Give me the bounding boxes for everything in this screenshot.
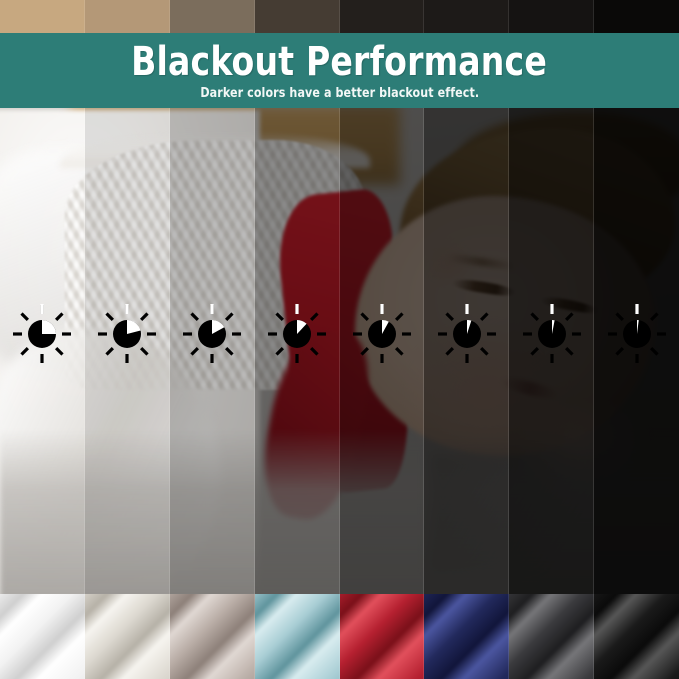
fabric-swatch-strip	[0, 594, 679, 679]
sun-brightness-icon-1	[0, 298, 85, 370]
title-banner: Blackout Performance Darker colors have …	[0, 33, 679, 108]
top-strip-cell-6	[424, 0, 509, 33]
top-strip-cell-1	[0, 0, 85, 33]
fabric-swatch-red	[340, 594, 425, 679]
fabric-swatch-black	[594, 594, 679, 679]
fabric-sheen	[594, 594, 679, 679]
top-strip-cell-3	[170, 0, 255, 33]
fabric-sheen	[509, 594, 594, 679]
top-strip-cell-8	[594, 0, 679, 33]
sun-icon-row	[0, 298, 679, 370]
page-title: Blackout Performance	[132, 41, 548, 83]
sun-brightness-icon-7	[509, 298, 594, 370]
fabric-swatch-ivory	[85, 594, 170, 679]
fabric-sheen	[255, 594, 340, 679]
fabric-swatch-dark-gray	[509, 594, 594, 679]
sun-brightness-icon-4	[255, 298, 340, 370]
sun-brightness-icon-8	[594, 298, 679, 370]
top-color-strip	[0, 0, 679, 33]
top-strip-cell-2	[85, 0, 170, 33]
page-subtitle: Darker colors have a better blackout eff…	[200, 86, 479, 101]
sun-brightness-icon-5	[340, 298, 425, 370]
fabric-swatch-white	[0, 594, 85, 679]
blackout-performance-infographic: Blackout Performance Darker colors have …	[0, 0, 679, 679]
top-strip-cell-4	[255, 0, 340, 33]
fabric-sheen	[424, 594, 509, 679]
fabric-swatch-navy	[424, 594, 509, 679]
top-strip-cell-7	[509, 0, 594, 33]
top-strip-cell-5	[340, 0, 425, 33]
fabric-swatch-light-blue	[255, 594, 340, 679]
fabric-sheen	[340, 594, 425, 679]
sun-brightness-icon-6	[424, 298, 509, 370]
sun-brightness-icon-3	[170, 298, 255, 370]
fabric-swatch-taupe	[170, 594, 255, 679]
fabric-sheen	[0, 594, 85, 679]
sun-brightness-icon-2	[85, 298, 170, 370]
fabric-sheen	[170, 594, 255, 679]
fabric-sheen	[85, 594, 170, 679]
